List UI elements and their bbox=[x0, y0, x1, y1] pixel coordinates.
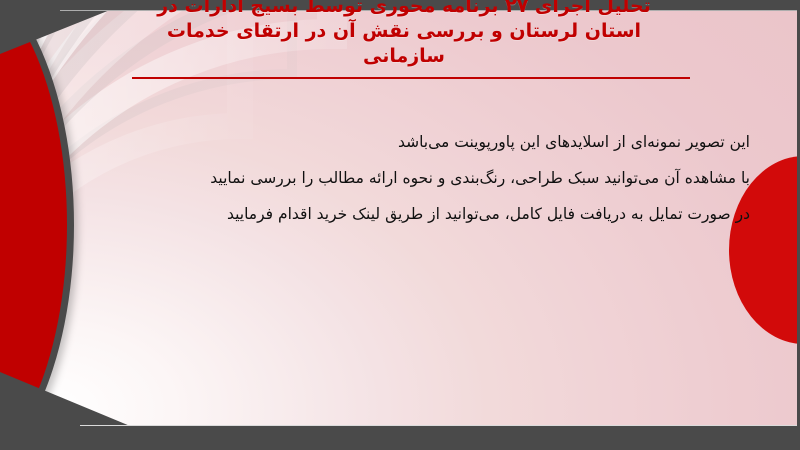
slide-body-line-2: با مشاهده آن می‌توانید سبک طراحی، رنگ‌بن… bbox=[60, 160, 750, 196]
slide-title-line-2: استان لرستان و بررسی نقش آن در ارتقای خد… bbox=[96, 19, 712, 44]
frame-corner-cut-bottom-left bbox=[0, 372, 130, 426]
slide-title: تحلیل اجرای ۲۷ برنامه محوری توسط بسیج اد… bbox=[96, 0, 712, 69]
slide-body-line-3: در صورت تمایل به دریافت فایل کامل، می‌تو… bbox=[60, 196, 750, 232]
frame-corner-cut-top-left bbox=[0, 10, 110, 54]
title-underline bbox=[132, 77, 690, 79]
slide-body: این تصویر نمونه‌ای از اسلایدهای این پاور… bbox=[60, 124, 750, 232]
slide-title-line-1: تحلیل اجرای ۲۷ برنامه محوری توسط بسیج اد… bbox=[96, 0, 712, 19]
plate-edge-highlight-bottom bbox=[80, 425, 800, 426]
slide-canvas: تحلیل اجرای ۲۷ برنامه محوری توسط بسیج اد… bbox=[0, 0, 800, 450]
frame-band-bottom bbox=[0, 425, 800, 450]
slide-title-line-3: سازمانی bbox=[96, 44, 712, 69]
slide-body-line-1: این تصویر نمونه‌ای از اسلایدهای این پاور… bbox=[60, 124, 750, 160]
